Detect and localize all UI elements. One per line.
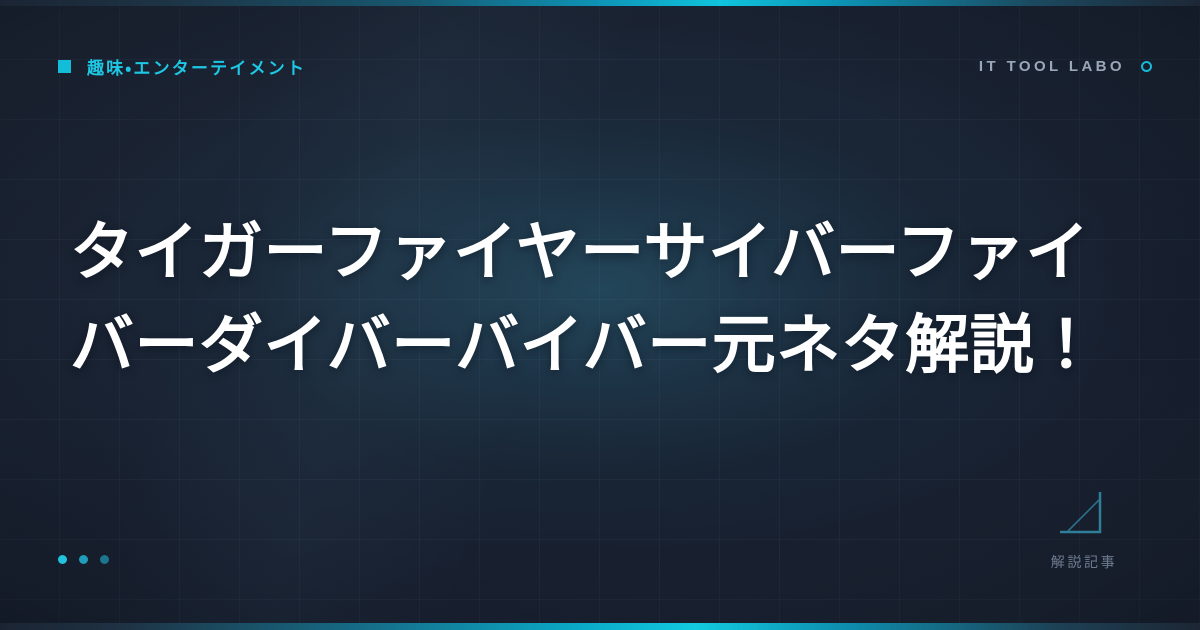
bottom-accent-bar-fill (0, 623, 1200, 630)
category-badge: 趣味・エンターテイメント (58, 54, 306, 79)
article-type-label: 解説記事 (1051, 552, 1117, 572)
corner-angle-icon (1056, 490, 1112, 538)
category-label: 趣味・エンターテイメント (87, 54, 306, 79)
dot-icon-3 (100, 555, 109, 564)
top-accent-bar (0, 0, 1200, 6)
dot-icon-1 (58, 555, 67, 564)
ogp-card: 趣味・エンターテイメント IT TOOL LABO タイガーファイヤーサイバーフ… (0, 0, 1200, 630)
top-accent-bar-fill (0, 0, 1200, 6)
brand-lockup: IT TOOL LABO (979, 58, 1152, 75)
brand-name: IT TOOL LABO (979, 58, 1125, 75)
title-block: タイガーファイヤーサイバーファイバーダイバーバイバー元ネタ解説！ (70, 206, 1140, 393)
card-header: 趣味・エンターテイメント IT TOOL LABO (58, 52, 1152, 80)
article-type-badge: 解説記事 (1024, 490, 1144, 572)
circle-outline-icon (1141, 61, 1152, 72)
dot-icon-2 (79, 555, 88, 564)
bottom-accent-bar (0, 623, 1200, 630)
page-title: タイガーファイヤーサイバーファイバーダイバーバイバー元ネタ解説！ (70, 206, 1140, 393)
decorative-dots (58, 555, 109, 564)
filled-square-icon (58, 60, 71, 73)
